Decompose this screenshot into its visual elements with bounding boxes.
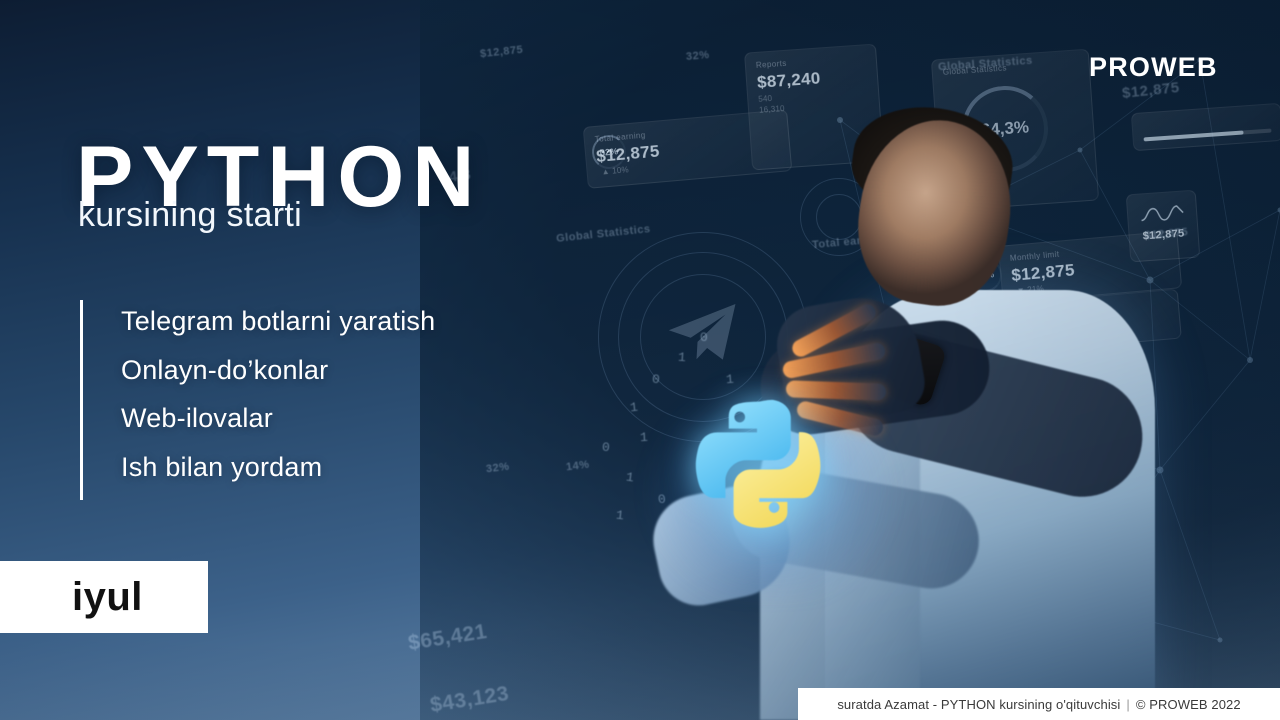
month-badge: iyul xyxy=(0,561,208,633)
list-item: Ish bilan yordam xyxy=(121,446,435,490)
caption-separator: | xyxy=(1126,697,1129,712)
copyright-notice: © PROWEB 2022 xyxy=(1136,697,1241,712)
page-subtitle: kursining starti xyxy=(78,196,302,235)
footer-caption-bar: suratda Azamat - PYTHON kursining o'qitu… xyxy=(798,688,1280,720)
list-item: Web-ilovalar xyxy=(121,397,435,441)
list-item: Onlayn-do’konlar xyxy=(121,349,435,393)
left-content: PYTHON kursining starti Telegram botlarn… xyxy=(0,0,620,720)
proweb-logo: PROWEB xyxy=(1089,52,1218,83)
list-item: Telegram botlarni yaratish xyxy=(121,300,435,344)
python-logo-icon xyxy=(692,392,822,532)
photo-credit: suratda Azamat - PYTHON kursining o'qitu… xyxy=(837,697,1120,712)
month-badge-label: iyul xyxy=(72,575,143,620)
feature-list: Telegram botlarni yaratish Onlayn-do’kon… xyxy=(80,300,435,500)
promo-banner: Total earning $12,875 ▲ 10% 32% Reports … xyxy=(0,0,1280,720)
